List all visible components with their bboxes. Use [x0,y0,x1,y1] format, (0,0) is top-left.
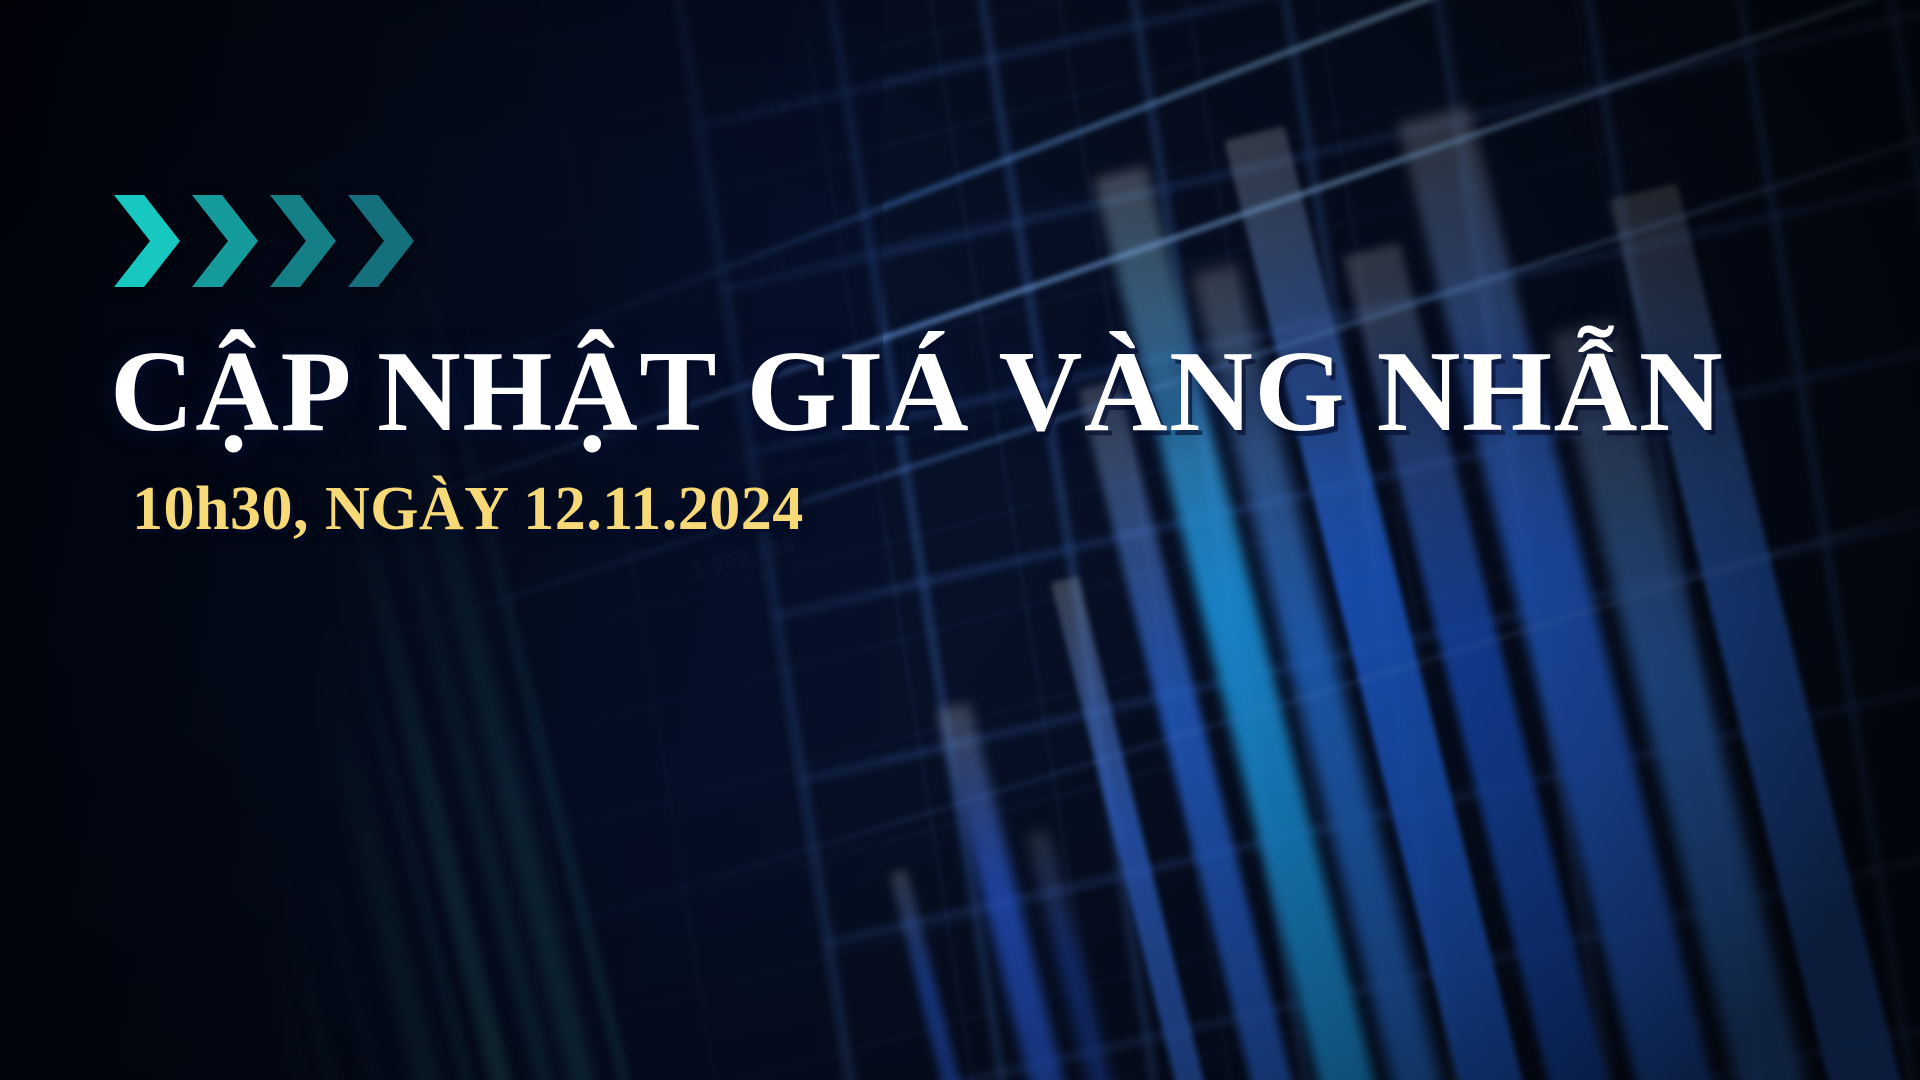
chevron-arrows-group [110,195,1670,287]
gold-price-banner: USDJPY PROGoldDJI-22Sep141 279.320.7%1 3… [0,0,1920,1080]
chevron-4-icon [344,195,416,287]
chevron-1-icon [110,195,182,287]
banner-content: CẬP NHẬT GIÁ VÀNG NHẪN 10h30, NGÀY 12.11… [110,195,1670,542]
banner-headline: CẬP NHẬT GIÁ VÀNG NHẪN [110,333,1670,451]
chevron-2-icon [188,195,260,287]
banner-subheadline-timestamp: 10h30, NGÀY 12.11.2024 [132,477,1670,542]
chevron-3-icon [266,195,338,287]
